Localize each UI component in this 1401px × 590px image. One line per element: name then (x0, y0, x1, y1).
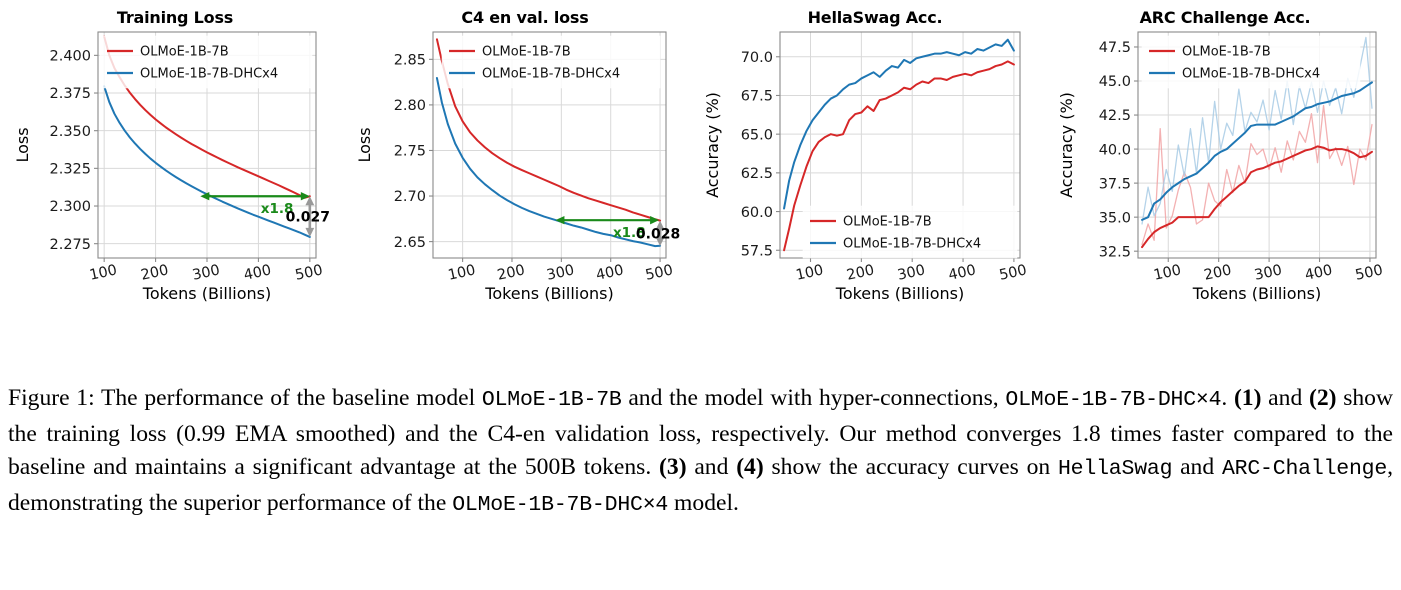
caption-text: and (1172, 454, 1222, 480)
x-tick-label: 300 (191, 262, 221, 283)
chart-svg-arc-challenge-acc: 47.545.042.540.037.535.032.5100200300400… (1050, 0, 1400, 320)
y-tick-label: 35.0 (1099, 210, 1131, 226)
figure-page: Training Loss 2.4002.3752.3502.3252.3002… (0, 0, 1401, 590)
x-tick-label: 100 (88, 262, 118, 283)
y-tick-label: 40.0 (1099, 142, 1131, 158)
x-tick-label: 400 (1303, 262, 1333, 283)
legend-label: OLMoE-1B-7B-DHCx4 (843, 237, 981, 252)
annotation-label-gap: 0.028 (636, 226, 680, 242)
y-tick-label: 70.0 (741, 50, 773, 66)
caption-text: and (1261, 385, 1309, 411)
caption-emphasis: (1) (1234, 385, 1262, 411)
legend-label: OLMoE-1B-7B-DHCx4 (140, 67, 278, 82)
y-axis-title: Loss (355, 127, 374, 162)
caption-text: The performance of the baseline model (95, 385, 482, 411)
y-tick-label: 65.0 (741, 127, 773, 143)
x-tick-label: 300 (896, 262, 926, 283)
chart-legend[interactable]: OLMoE-1B-7BOLMoE-1B-7B-DHCx4 (442, 36, 660, 88)
caption-emphasis: (2) (1309, 385, 1337, 411)
y-tick-label: 62.5 (741, 166, 773, 182)
chart-legend[interactable]: OLMoE-1B-7BOLMoE-1B-7B-DHCx4 (1142, 36, 1360, 88)
y-tick-label: 47.5 (1099, 40, 1131, 56)
legend-label: OLMoE-1B-7B (140, 45, 229, 60)
y-tick-label: 42.5 (1099, 108, 1131, 124)
x-axis-title: Tokens (Billions) (835, 284, 964, 303)
caption-emphasis: (4) (736, 454, 764, 480)
y-tick-label: 2.275 (49, 237, 91, 253)
y-tick-label: 45.0 (1099, 74, 1131, 90)
x-tick-label: 200 (845, 262, 875, 283)
x-tick-label: 300 (1253, 262, 1283, 283)
chart-panel-hellaswag-acc: HellaSwag Acc. 70.067.565.062.560.057.51… (700, 0, 1050, 320)
x-tick-label: 400 (595, 262, 625, 283)
caption-code: OLMoE-1B-7B (482, 388, 622, 412)
caption-text: show the accuracy curves on (764, 454, 1058, 480)
x-tick-label: 500 (294, 262, 324, 283)
y-axis-title: Accuracy (%) (1057, 92, 1076, 198)
y-tick-label: 2.80 (394, 98, 426, 114)
y-tick-label: 2.400 (49, 49, 91, 65)
chart-legend[interactable]: OLMoE-1B-7BOLMoE-1B-7B-DHCx4 (803, 206, 1017, 258)
chart-panel-arc-challenge-acc: ARC Challenge Acc. 47.545.042.540.037.53… (1050, 0, 1400, 320)
x-axis-title: Tokens (Billions) (142, 284, 271, 303)
y-tick-label: 67.5 (741, 89, 773, 105)
y-axis-title: Accuracy (%) (703, 92, 722, 198)
legend-label: OLMoE-1B-7B (482, 45, 571, 60)
legend-label: OLMoE-1B-7B (843, 215, 932, 230)
y-axis-title: Loss (13, 127, 32, 162)
x-tick-label: 100 (447, 262, 477, 283)
x-tick-label: 200 (140, 262, 170, 283)
x-tick-label: 500 (644, 262, 674, 283)
y-tick-label: 2.375 (49, 86, 91, 102)
caption-text: and (687, 454, 737, 480)
x-tick-label: 300 (545, 262, 575, 283)
chart-panel-c4-en-val-loss: C4 en val. loss 2.852.802.752.702.651002… (350, 0, 700, 320)
chart-svg-hellaswag-acc: 70.067.565.062.560.057.5100200300400500T… (700, 0, 1050, 320)
caption-emphasis: (3) (659, 454, 687, 480)
x-tick-label: 400 (947, 262, 977, 283)
caption-code: OLMoE-1B-7B-DHC×4 (452, 493, 668, 517)
y-tick-label: 2.350 (49, 124, 91, 140)
y-tick-label: 2.325 (49, 162, 91, 178)
legend-label: OLMoE-1B-7B-DHCx4 (1182, 67, 1320, 82)
x-tick-label: 200 (496, 262, 526, 283)
caption-text: . (1221, 385, 1234, 411)
y-tick-label: 2.65 (394, 235, 426, 251)
y-tick-label: 2.75 (394, 144, 426, 160)
chart-svg-training-loss: 2.4002.3752.3502.3252.3002.2751002003004… (0, 0, 350, 320)
x-tick-label: 200 (1203, 262, 1233, 283)
chart-svg-c4-en-val-loss: 2.852.802.752.702.65100200300400500Token… (350, 0, 700, 320)
y-tick-label: 57.5 (741, 243, 773, 259)
caption-text: model. (668, 490, 739, 516)
y-tick-label: 2.300 (49, 199, 91, 215)
x-tick-label: 100 (794, 262, 824, 283)
caption-text: and the model with hyper-connections, (622, 385, 1006, 411)
caption-code: OLMoE-1B-7B-DHC×4 (1005, 388, 1221, 412)
y-tick-label: 2.70 (394, 189, 426, 205)
x-tick-label: 500 (1354, 262, 1384, 283)
y-tick-label: 60.0 (741, 205, 773, 221)
figure-caption: Figure 1: The performance of the baselin… (8, 382, 1393, 522)
chart-panel-training-loss: Training Loss 2.4002.3752.3502.3252.3002… (0, 0, 350, 320)
y-tick-label: 2.85 (394, 53, 426, 69)
caption-code: ARC-Challenge (1222, 457, 1387, 481)
x-tick-label: 100 (1152, 262, 1182, 283)
caption-code: HellaSwag (1058, 457, 1172, 481)
charts-row: Training Loss 2.4002.3752.3502.3252.3002… (0, 0, 1401, 320)
x-axis-title: Tokens (Billions) (484, 284, 613, 303)
x-tick-label: 400 (242, 262, 272, 283)
caption-label: Figure 1: (8, 385, 95, 411)
legend-label: OLMoE-1B-7B (1182, 45, 1271, 60)
y-tick-label: 37.5 (1099, 176, 1131, 192)
y-tick-label: 32.5 (1099, 244, 1131, 260)
annotation-label-gap: 0.027 (286, 210, 330, 226)
legend-label: OLMoE-1B-7B-DHCx4 (482, 67, 620, 82)
x-tick-label: 500 (998, 262, 1028, 283)
chart-legend[interactable]: OLMoE-1B-7BOLMoE-1B-7B-DHCx4 (100, 36, 312, 88)
x-axis-title: Tokens (Billions) (1192, 284, 1321, 303)
